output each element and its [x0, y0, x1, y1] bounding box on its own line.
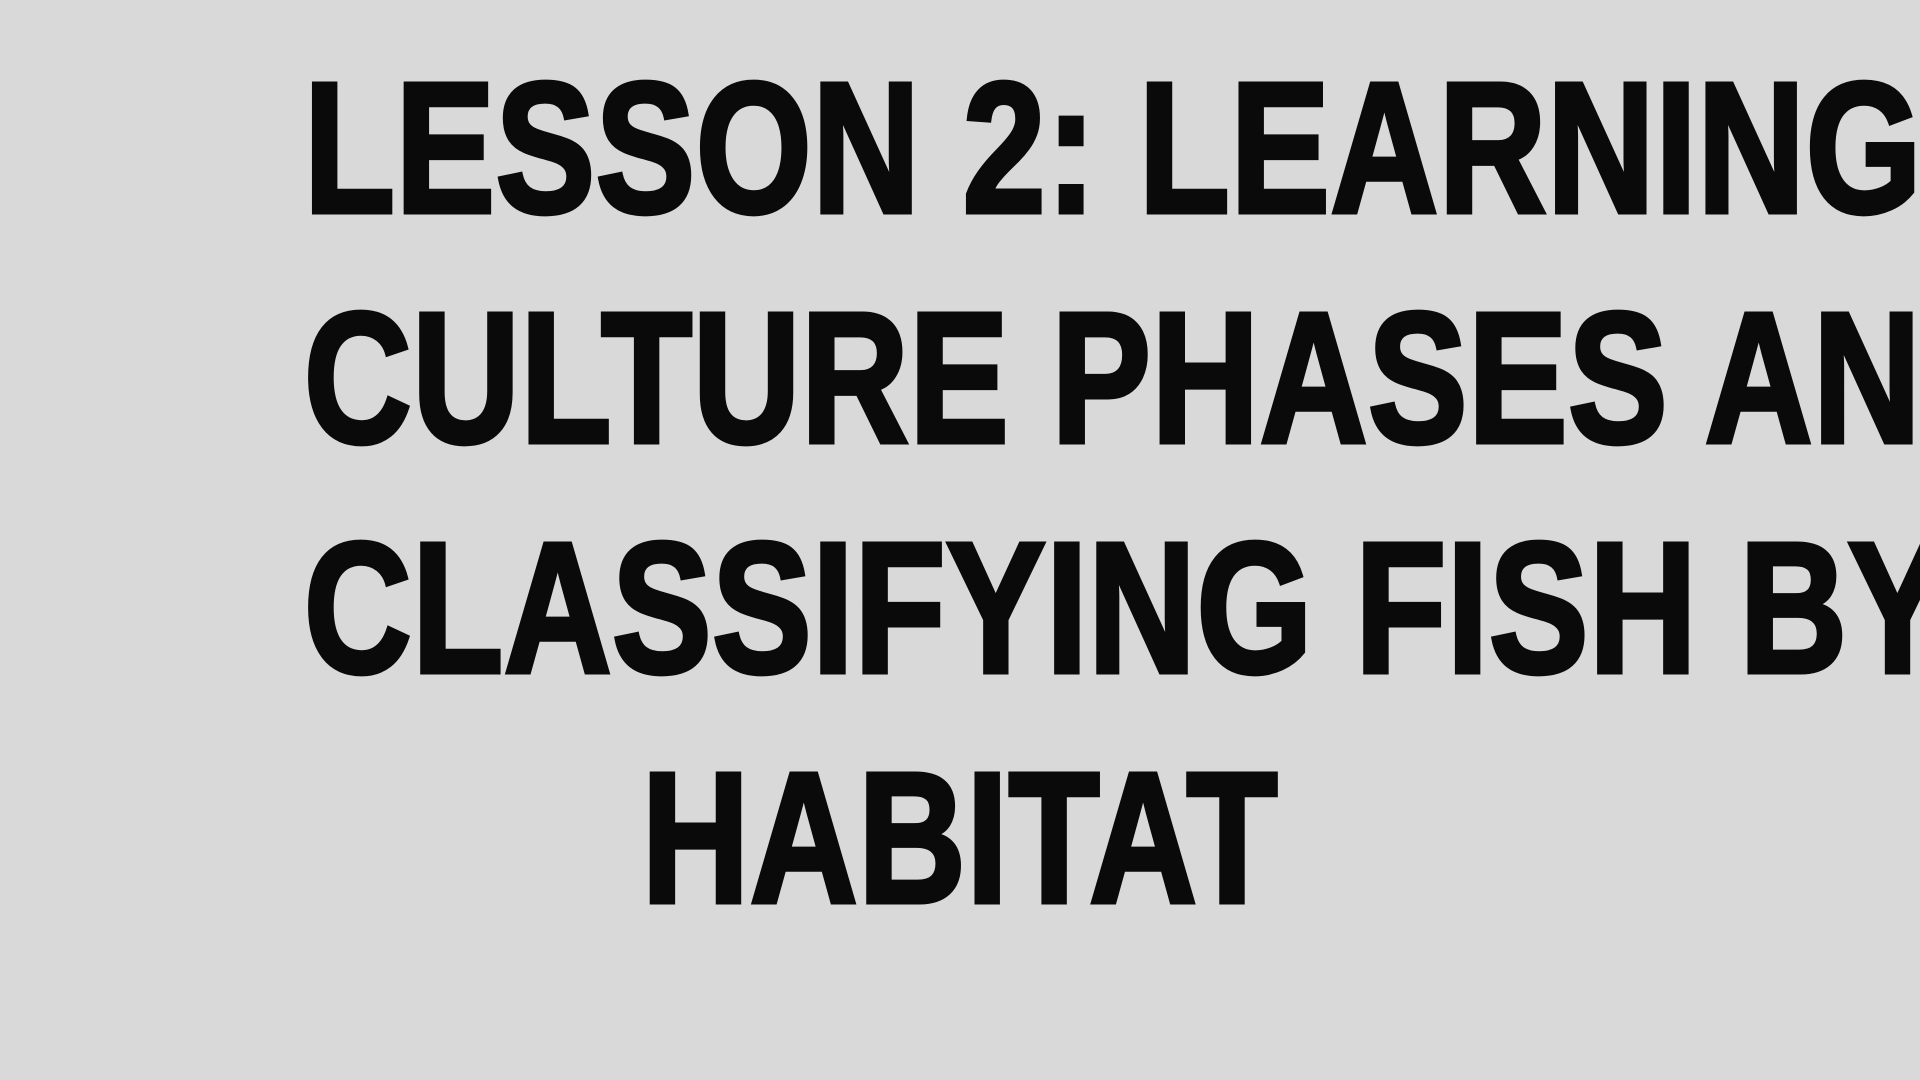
title-line-1: LESSON 2: LEARNING: [304, 34, 1616, 264]
slide-canvas: LESSON 2: LEARNING CULTURE PHASES AND CL…: [0, 0, 1920, 1080]
title-line-4: HABITAT: [304, 724, 1616, 954]
page-title: LESSON 2: LEARNING CULTURE PHASES AND CL…: [140, 34, 1780, 954]
title-line-2: CULTURE PHASES AND: [304, 264, 1616, 494]
title-line-3: CLASSIFYING FISH BY: [304, 494, 1616, 724]
